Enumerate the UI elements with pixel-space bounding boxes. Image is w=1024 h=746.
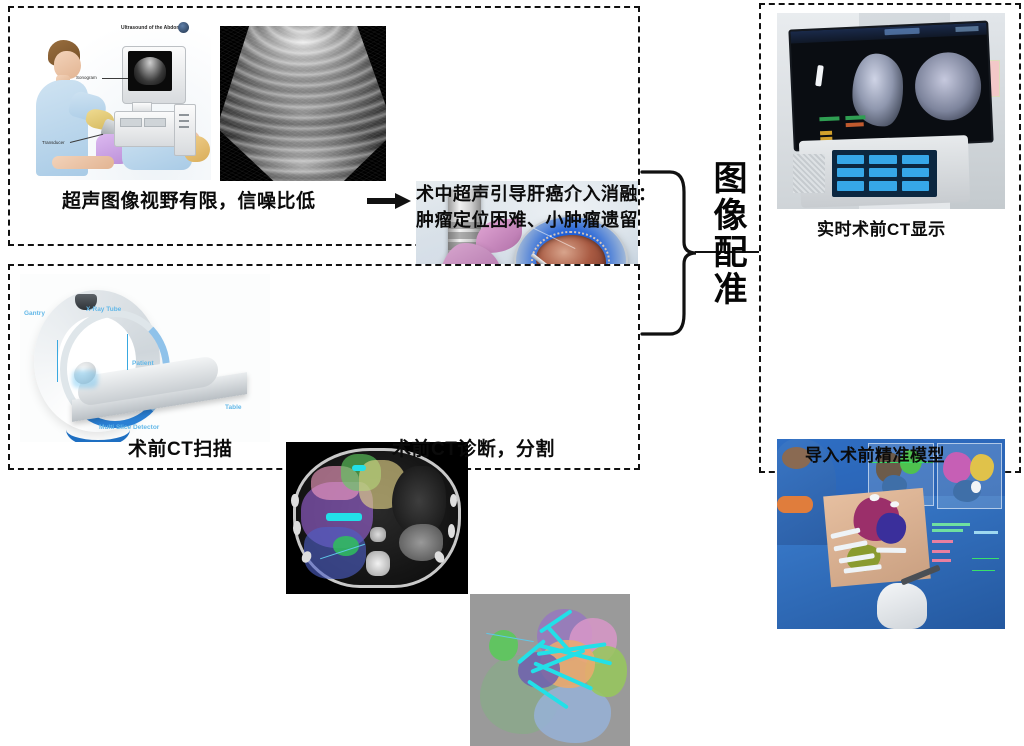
label-gantry: Gantry [24,310,45,317]
transducer-label: Transducer [42,140,65,145]
label-multi-slice-detector: Multi Slice Detector [99,424,159,431]
intraoperative-ultrasound-panel: Ultrasound of the Abdomen Sonogram T [8,6,640,246]
ct-3d-liver-model [470,594,630,746]
gloved-hand-instrument [877,583,927,629]
preop-precision-model-import-photo [777,439,1005,629]
realtime-preop-ct-display-photo [777,13,1005,209]
console-grille [793,154,825,193]
sonogram-label: Sonogram [76,75,97,80]
sonogram-grayscale-image [220,26,386,181]
caption-preop-ct-diagnosis: 术前CT诊断，分割 [392,434,555,461]
spine [366,551,390,575]
caption-preop-model-import: 导入术前精准模型 [805,441,945,466]
surgical-navigation-panel: 实时术前CT显示 [759,3,1021,473]
machine-tower [174,104,196,156]
right-arrow-icon [367,191,411,211]
orange-strap [777,496,813,513]
scan-glow [72,370,98,388]
console-keypad [120,118,142,127]
caption-ablation-line2: 肿瘤定位困难、小肿瘤遗留 [416,206,638,232]
aorta [370,527,386,542]
label-xray-tube: X-Ray Tube [86,306,121,313]
screen-reflection [814,65,823,87]
ar-info-overlay [932,523,1000,603]
ar-ct-panel-right [937,443,1003,510]
caption-preop-ct-scan: 术前CT扫描 [128,434,232,461]
label-table: Table [225,404,242,411]
machine-screen [128,51,172,91]
caption-realtime-preop-ct-display: 实时术前CT显示 [817,215,946,240]
ct-axial-segmentation-image [286,442,468,594]
vessel-highlight [326,513,362,521]
touchscreen-keypad[interactable] [832,150,937,197]
caption-ablation-line1: 术中超声引导肝癌介入消融： [416,180,657,206]
preoperative-ct-panel: Gantry X-Ray Tube Patient Table Multi Sl… [8,264,640,470]
page-title-image-registration: 图像配准 [703,160,752,345]
patient-arm [52,156,114,169]
console-keypad-2 [144,118,166,127]
illustration-title: Ultrasound of the Abdomen [121,25,187,31]
ultrasound-monitor [788,20,993,151]
ct-scanner-illustration: Gantry X-Ray Tube Patient Table Multi Sl… [20,274,270,442]
ultrasound-abdomen-illustration: Ultrasound of the Abdomen Sonogram T [26,18,211,180]
publisher-logo-icon [178,22,189,33]
label-patient: Patient [132,360,154,367]
curly-brace-icon [640,168,700,338]
caption-ultrasound-limitation: 超声图像视野有限，信噪比低 [62,186,316,213]
